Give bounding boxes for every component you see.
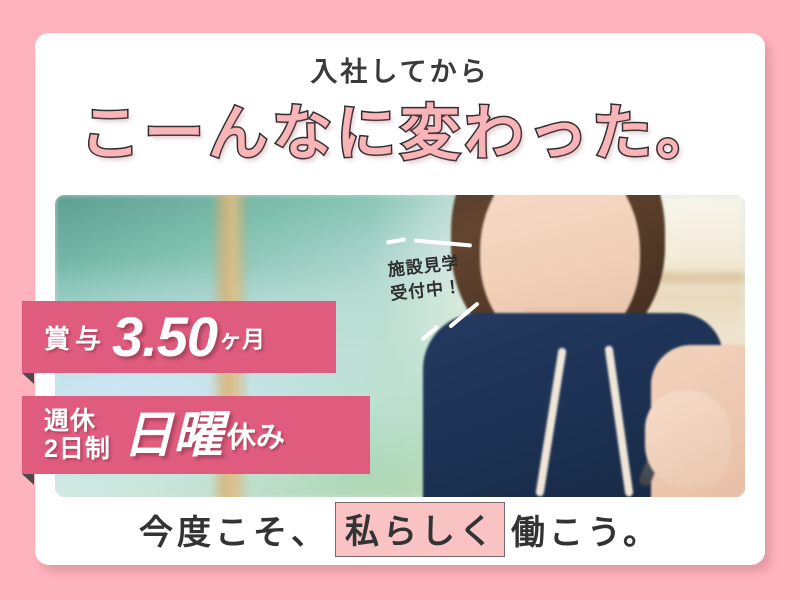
badge-bonus-unit: ヶ月 — [219, 320, 265, 354]
badge-bonus-label: 賞与 — [44, 319, 106, 356]
badge-holiday-label-line2: 2日制 — [44, 435, 111, 463]
badge-holiday-unit: 休み — [227, 414, 285, 456]
badge-bonus: 賞与 3.50 ヶ月 — [22, 301, 336, 373]
badge-holiday: 週休 2日制 日曜 休み — [22, 396, 370, 474]
facility-tour-callout: 施設見学 受付中！ — [375, 250, 476, 308]
tagline-after: 働こう。 — [511, 505, 661, 554]
badge-holiday-label: 週休 2日制 — [44, 407, 111, 463]
badge-bonus-value: 3.50 — [112, 309, 217, 365]
recruitment-banner: 入社してから こーんなに変わった。 施設見学 受付中！ 賞与 — [0, 0, 800, 600]
badge-holiday-value: 日曜 — [123, 410, 223, 460]
tagline-highlight: 私らしく — [335, 502, 505, 557]
tagline-before: 今度こそ、 — [139, 505, 329, 554]
badge-holiday-label-line1: 週休 — [44, 407, 111, 435]
footer-tagline: 今度こそ、 私らしく 働こう。 — [35, 505, 765, 553]
